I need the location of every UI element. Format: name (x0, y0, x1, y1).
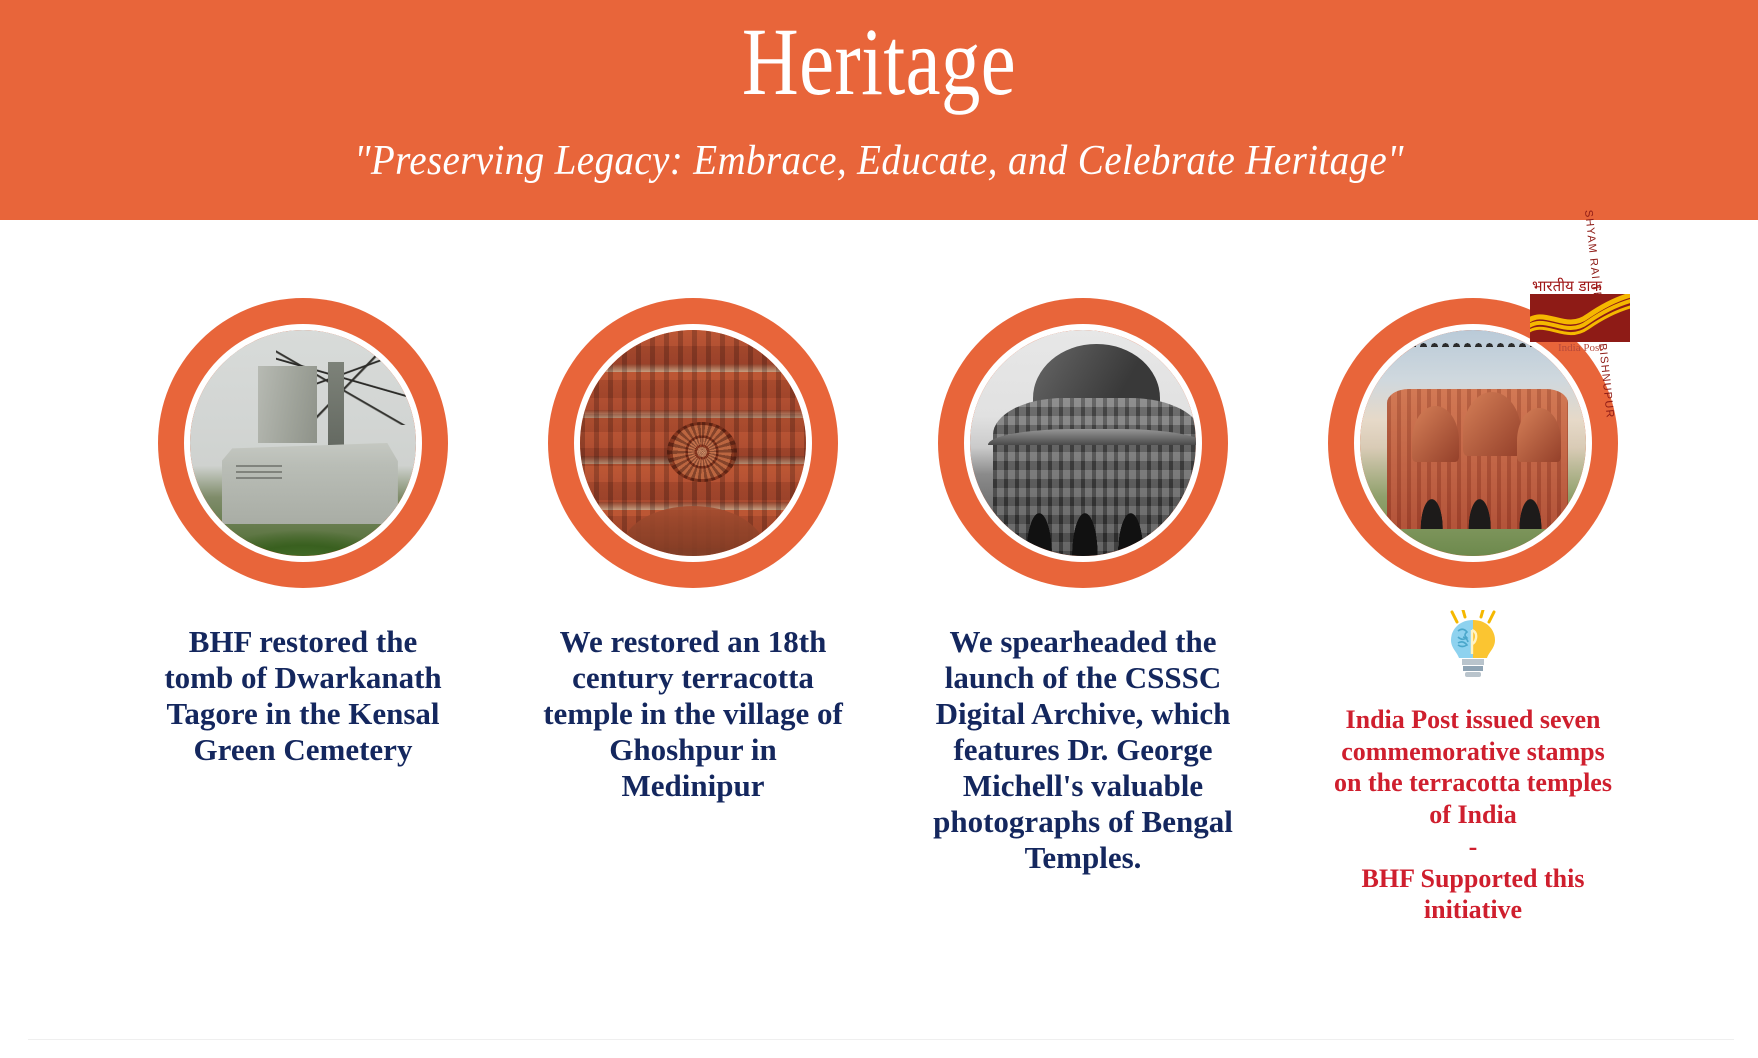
content-card-2: We restored an 18th century terracotta t… (498, 220, 888, 1058)
footer-divider (28, 1039, 1734, 1040)
medallion-inner-3 (964, 324, 1202, 562)
card-caption-3: We spearheaded the launch of the CSSSC D… (933, 624, 1233, 876)
temple-arches-shape (1412, 487, 1553, 529)
india-post-logo: भारतीय डाक India Post (1524, 276, 1636, 362)
tomb-slab-shape (222, 434, 398, 524)
india-post-hindi-text: भारतीय डाक (1532, 276, 1602, 296)
medallion-1 (158, 298, 448, 588)
medallion-4: SHYAM RAI TEMPLE, BISHNUPUR भारतीय डाक I… (1328, 298, 1618, 588)
plinth-shape (258, 366, 317, 443)
medallion-inner-2 (574, 324, 812, 562)
bengal-temple-archival-photo (970, 330, 1196, 556)
card-caption-4: India Post issued seven commemorative st… (1328, 704, 1618, 926)
medallion-ring-3 (938, 298, 1228, 588)
medallion-inner-1 (184, 324, 422, 562)
india-post-english-text: India Post (1558, 342, 1602, 354)
content-card-3: We spearheaded the launch of the CSSSC D… (888, 220, 1278, 1058)
content-card-1: BHF restored the tomb of Dwarkanath Tago… (108, 220, 498, 1058)
medallion-ring-2 (548, 298, 838, 588)
obelisk-shape (328, 362, 344, 448)
medallion-2 (548, 298, 838, 588)
medallion-ring-1 (158, 298, 448, 588)
india-post-stamp-shyam-rai-temple (1360, 330, 1586, 556)
terracotta-temple-carving-photo (580, 330, 806, 556)
india-post-logo-mark (1530, 294, 1630, 342)
temple-tower-shape (1517, 408, 1560, 461)
temple-tower-shape (1412, 406, 1459, 462)
tomb-of-dwarkanath-tagore-photo (190, 330, 416, 556)
content-card-4: SHYAM RAI TEMPLE, BISHNUPUR भारतीय डाक I… (1278, 220, 1668, 1058)
shyam-rai-temple-shape (1387, 389, 1568, 529)
idea-lightbulb-brain-icon (1445, 610, 1501, 680)
rosette-medallion-shape (670, 425, 733, 479)
temple-cornice-shape (988, 429, 1196, 445)
card-caption-1: BHF restored the tomb of Dwarkanath Tago… (153, 624, 453, 768)
india-post-swoosh-icon (1530, 294, 1630, 342)
content-columns: BHF restored the tomb of Dwarkanath Tago… (0, 220, 1758, 1058)
temple-arches-shape (1011, 497, 1187, 556)
page-header: Heritage "Preserving Legacy: Embrace, Ed… (0, 0, 1758, 220)
temple-tower-shape (1463, 392, 1521, 456)
page-title: Heritage (158, 14, 1600, 110)
card-caption-2: We restored an 18th century terracotta t… (543, 624, 843, 804)
page-subtitle: "Preserving Legacy: Embrace, Educate, an… (62, 138, 1697, 184)
medallion-3 (938, 298, 1228, 588)
